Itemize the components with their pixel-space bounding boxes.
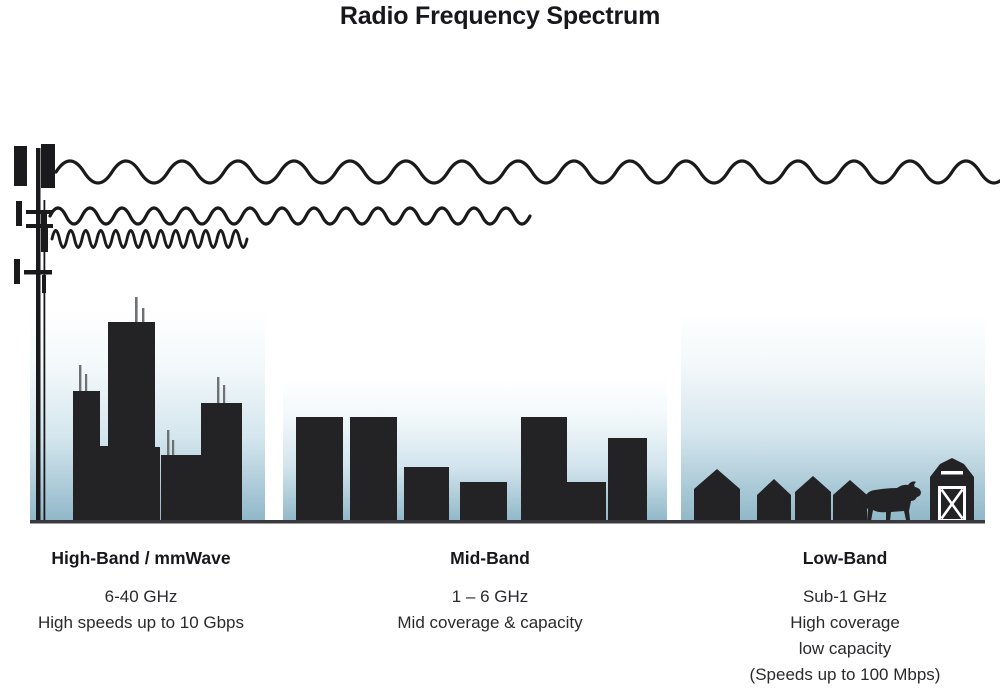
- wave-high-band: [52, 231, 247, 248]
- building-high-1: [73, 391, 100, 522]
- building-high-4: [155, 447, 160, 522]
- tower-crossbar-lower: [24, 270, 52, 275]
- band-caption-mid-band: Mid-Band 1 – 6 GHz Mid coverage & capaci…: [340, 548, 640, 636]
- band-description-mid-band: 1 – 6 GHz Mid coverage & capacity: [340, 584, 640, 636]
- building-mid-1: [296, 417, 343, 522]
- tower-antenna-panel-mid-left: [16, 201, 22, 226]
- tower-antenna-panel-bottom-right: [42, 275, 46, 293]
- band-title-mid-band: Mid-Band: [340, 548, 640, 569]
- barn-loft-window: [941, 471, 963, 475]
- spire-low-b: [172, 440, 174, 456]
- band-description-high-band: 6-40 GHz High speeds up to 10 Gbps: [0, 584, 282, 636]
- spire-right-a: [217, 377, 219, 405]
- band-detail-low-band-1: High coverage: [690, 610, 1000, 636]
- building-mid-2: [350, 417, 397, 522]
- tower-antenna-panel-third: [41, 228, 48, 252]
- band-description-low-band: Sub-1 GHz High coverage low capacity (Sp…: [690, 584, 1000, 688]
- spire-low-a: [167, 430, 169, 455]
- tower-antenna-panel-top-right: [41, 144, 55, 188]
- band-detail-mid-band-1: Mid coverage & capacity: [340, 610, 640, 636]
- band-detail-high-band-1: High speeds up to 10 Gbps: [0, 610, 282, 636]
- band-detail-low-band-3: (Speeds up to 100 Mbps): [690, 662, 1000, 688]
- tower-crossbar-upper: [26, 210, 53, 214]
- band-title-high-band: High-Band / mmWave: [0, 548, 282, 569]
- building-mid-6: [567, 482, 606, 522]
- spire-mid-b: [85, 374, 87, 393]
- building-mid-5: [521, 417, 567, 522]
- tower-antenna-panel-bottom-left: [14, 259, 20, 284]
- spire-mid-a: [79, 365, 81, 392]
- tower-crossbar-middle: [26, 224, 53, 228]
- building-high-5: [161, 455, 201, 522]
- radio-waves: [50, 161, 1000, 248]
- tower-antenna-panel-top-left: [14, 146, 27, 186]
- band-caption-high-band: High-Band / mmWave 6-40 GHz High speeds …: [0, 548, 282, 636]
- building-high-6: [201, 403, 242, 522]
- building-mid-7: [608, 438, 647, 522]
- band-frequency-high-band: 6-40 GHz: [0, 584, 282, 610]
- building-high-3: [108, 322, 155, 522]
- band-caption-low-band: Low-Band Sub-1 GHz High coverage low cap…: [690, 548, 1000, 688]
- spire-right-b: [223, 385, 225, 405]
- band-frequency-mid-band: 1 – 6 GHz: [340, 584, 640, 610]
- band-detail-low-band-2: low capacity: [690, 636, 1000, 662]
- wave-low-band: [56, 161, 1000, 183]
- ground-line: [30, 520, 985, 524]
- band-frequency-low-band: Sub-1 GHz: [690, 584, 1000, 610]
- tower-mast: [36, 148, 41, 523]
- building-mid-3: [404, 467, 449, 522]
- wave-mid-band: [50, 208, 530, 224]
- band-title-low-band: Low-Band: [690, 548, 1000, 569]
- building-mid-4: [460, 482, 507, 522]
